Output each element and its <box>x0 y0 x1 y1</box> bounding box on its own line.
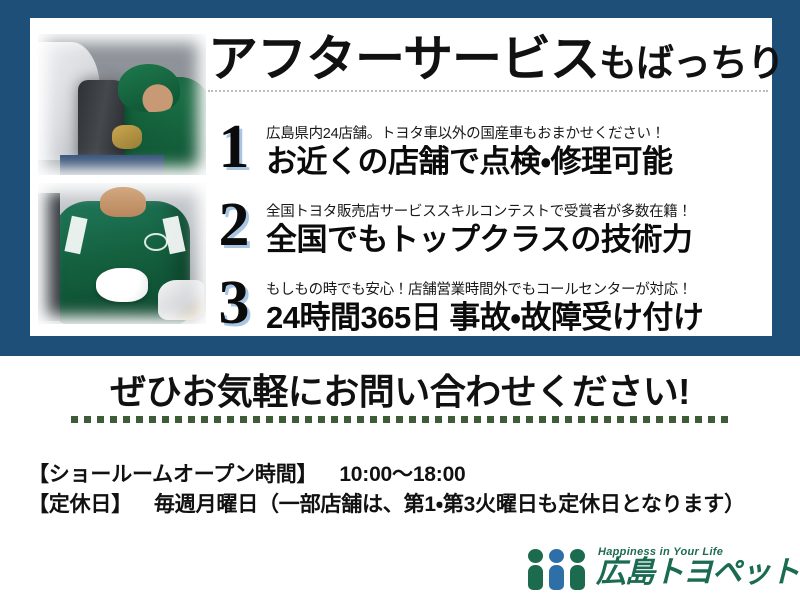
blue-frame-banner: アフターサービスもばっちり！ 1 広島県内24店舗。トヨタ車以外の国産車もおまか… <box>0 0 800 356</box>
point-row: 2 全国トヨタ販売店サービススキルコンテストで受賞者が多数在籍！ 全国でもトップ… <box>208 178 770 256</box>
point-number: 3 <box>208 274 260 334</box>
person-body <box>570 565 585 590</box>
uniform-stripe-left <box>64 216 87 255</box>
dealer-logo: Happiness in Your Life 広島トヨペット <box>528 546 786 592</box>
showroom-hours-value: 10:00〜18:00 <box>339 463 465 486</box>
call-to-action: ぜひお気軽にお問い合わせください! <box>0 372 800 423</box>
white-gloves-shape <box>96 268 148 302</box>
point-headline: お近くの店舗で点検・修理可能 <box>266 145 770 178</box>
car-part-shape <box>158 280 204 320</box>
cta-text: ぜひお気軽にお問い合わせください! <box>110 372 690 412</box>
points-list: 1 広島県内24店舗。トヨタ車以外の国産車もおまかせください！ お近くの店舗で点… <box>208 100 770 334</box>
photo-mechanic-wheel-inspection <box>38 34 206 175</box>
person-figure-right <box>570 549 585 590</box>
showroom-hours-label: 【ショールームオープン時間】 <box>28 463 317 486</box>
uniform-stripe-right <box>162 216 185 255</box>
point-subtitle: もしもの時でも安心！店舗営業時間外でもコールセンターが対応！ <box>266 283 770 299</box>
point-subtitle: 広島県内24店舗。トヨタ車以外の国産車もおまかせください！ <box>266 127 770 143</box>
person-body <box>528 565 543 590</box>
point-row: 3 もしもの時でも安心！店舗営業時間外でもコールセンターが対応！ 24時間365… <box>208 256 770 334</box>
photo-technician-white-gloves <box>38 183 206 324</box>
wheel-shape <box>78 80 124 166</box>
uniform-emblem <box>144 233 168 251</box>
business-hours-block: 【ショールームオープン時間】10:00〜18:00 【定休日】毎週月曜日（一部店… <box>28 460 745 521</box>
headline: アフターサービスもばっちり！ <box>208 34 768 84</box>
person-head <box>528 549 543 563</box>
point-number: 1 <box>208 118 260 178</box>
person-figure-center <box>549 549 564 590</box>
headline-area: アフターサービスもばっちり！ <box>208 34 768 92</box>
point-headline: 全国でもトップクラスの技術力 <box>266 223 770 256</box>
showroom-hours-line: 【ショールームオープン時間】10:00〜18:00 <box>28 460 745 490</box>
headline-suffix: もばっちり！ <box>599 43 800 85</box>
white-content-panel: アフターサービスもばっちり！ 1 広島県内24店舗。トヨタ車以外の国産車もおまか… <box>30 18 772 336</box>
three-people-icon <box>528 548 588 590</box>
equipment-rack-shape <box>38 193 60 321</box>
person-head <box>549 549 564 563</box>
photo-column <box>38 34 206 324</box>
closed-days-line: 【定休日】毎週月曜日（一部店舗は、第1・第3火曜日も定休日となります） <box>28 490 745 520</box>
person-figure-left <box>528 549 543 590</box>
point-text: 広島県内24店舗。トヨタ車以外の国産車もおまかせください！ お近くの店舗で点検・… <box>260 127 770 178</box>
point-text: もしもの時でも安心！店舗営業時間外でもコールセンターが対応！ 24時間365日 … <box>260 283 770 334</box>
person-head <box>570 549 585 563</box>
point-subtitle: 全国トヨタ販売店サービススキルコンテストで受賞者が多数在籍！ <box>266 205 770 221</box>
closed-days-value: 毎週月曜日（一部店舗は、第1・第3火曜日も定休日となります） <box>154 493 745 516</box>
closed-days-label: 【定休日】 <box>28 493 132 516</box>
point-number: 2 <box>208 196 260 256</box>
headline-divider <box>208 90 768 92</box>
point-headline: 24時間365日 事故・故障受け付け <box>266 301 770 334</box>
headline-main: アフターサービス <box>208 31 599 87</box>
point-text: 全国トヨタ販売店サービススキルコンテストで受賞者が多数在籍！ 全国でもトップクラ… <box>260 205 770 256</box>
tool-tray-shape <box>60 155 164 175</box>
person-body <box>549 565 564 590</box>
logo-name: 広島トヨペット <box>596 558 799 588</box>
cta-dotted-underline <box>71 416 729 423</box>
point-row: 1 広島県内24店舗。トヨタ車以外の国産車もおまかせください！ お近くの店舗で点… <box>208 100 770 178</box>
work-glove-shape <box>112 125 142 149</box>
